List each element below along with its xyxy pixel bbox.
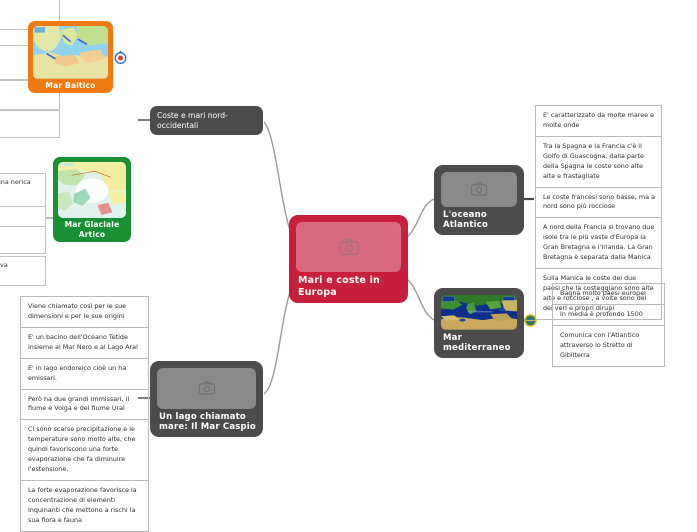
leaf-item[interactable]: Bagna molto paesi europei (552, 283, 665, 305)
node-label: L'oceano Atlantico (441, 207, 517, 231)
clipped-leaf-stub: ascia ne estiva (0, 256, 46, 286)
leaf-item[interactable]: La forte evaporazione favorisce la conce… (20, 481, 149, 532)
mindmap-canvas: Mar Baltico Mar Glacia (0, 0, 697, 520)
camera-icon (296, 222, 401, 272)
leaf-item[interactable]: Le coste francesi sono basse, ma a nord … (535, 188, 662, 219)
attachment-badge-icon[interactable] (523, 313, 538, 328)
node-mar-mediterraneo[interactable]: Mar Mediterraneo Mar mediterraneo (434, 288, 524, 358)
mediterraneo-leaf-group: Bagna molto paesi europei In media è pro… (552, 283, 665, 367)
leaf-item[interactable]: E' caratterizzato da molte maree e molte… (535, 105, 662, 137)
leaf-item[interactable]: E' in lago endoreico cioè un ha emissari… (20, 359, 149, 390)
node-label: Mari e coste in Europa (296, 272, 401, 299)
atlantico-image-placeholder (441, 172, 517, 207)
attachment-badge-icon[interactable] (113, 50, 128, 65)
camera-icon (441, 172, 517, 207)
leaf-item[interactable]: Ci sono scarse precipitazione e le tempe… (20, 420, 149, 481)
mar-mediterraneo-thumbnail: Mar Mediterraneo (441, 295, 517, 330)
node-label: Mar Glaciale Artico (58, 218, 126, 239)
leaf-item[interactable]: E' un bacino dell'Oceano Tetide insieme … (20, 328, 149, 359)
node-mar-glaciale-artico[interactable]: Mar Glaciale Artico (53, 157, 131, 242)
leaf-item[interactable]: A nord della Francia si trovano due isol… (535, 218, 662, 269)
clipped-leaf-stub: i ghiaccio (0, 226, 46, 254)
mar-glaciale-artico-thumbnail (58, 162, 126, 218)
caspio-leaf-group: Viene chiamato così per le sue dimension… (20, 296, 149, 532)
leaf-item[interactable]: Tra la Spagna e la Francia c'è il Golfo … (535, 137, 662, 188)
central-image-placeholder (296, 222, 401, 272)
svg-text:Mar Mediterraneo: Mar Mediterraneo (468, 310, 493, 313)
node-mar-baltico[interactable]: Mar Baltico (28, 21, 113, 93)
node-label: Un lago chiamato mare: Il Mar Caspio (157, 409, 256, 433)
leaf-item[interactable]: Però ha due grandi immissari, il fiume e… (20, 390, 149, 421)
leaf-item[interactable]: Comunica con l'Atlantico attraverso lo S… (552, 326, 665, 367)
caspio-image-placeholder (157, 368, 256, 409)
node-oceano-atlantico[interactable]: L'oceano Atlantico (434, 165, 524, 235)
central-node-mari-e-coste-in-europa[interactable]: Mari e coste in Europa (289, 215, 408, 303)
node-label: Mar mediterraneo (441, 330, 517, 354)
node-label: Mar Baltico (33, 79, 108, 90)
camera-icon (157, 368, 256, 409)
clipped-leaf-text: ttrionali e agna nerica (0, 178, 31, 186)
node-mar-caspio[interactable]: Un lago chiamato mare: Il Mar Caspio (150, 361, 263, 437)
clipped-leaf-stub (0, 110, 60, 138)
leaf-item[interactable]: Viene chiamato così per le sue dimension… (20, 296, 149, 328)
node-coste-mari-nord-occidentali[interactable]: Coste e mari nord-occidentali (150, 106, 263, 135)
mar-baltico-thumbnail (33, 26, 108, 79)
clipped-leaf-text: ascia ne estiva (0, 261, 8, 269)
leaf-item[interactable]: In media è profondo 1500 (552, 305, 665, 326)
node-label: Coste e mari nord-occidentali (150, 111, 263, 131)
